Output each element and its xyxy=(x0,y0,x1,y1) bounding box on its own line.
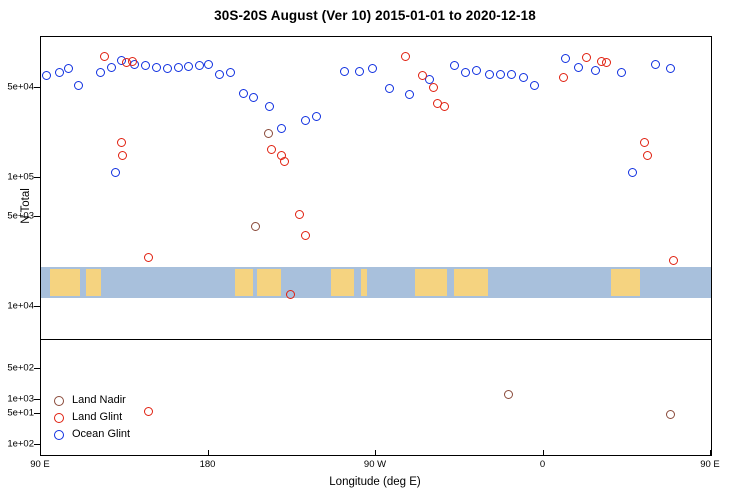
data-point xyxy=(504,390,513,399)
data-point xyxy=(602,58,611,67)
legend-marker-icon xyxy=(54,430,64,440)
x-tick-label: 0 xyxy=(540,459,545,470)
legend-item: Land Nadir xyxy=(54,392,130,409)
data-point xyxy=(174,63,183,72)
data-point xyxy=(574,63,583,72)
data-point xyxy=(440,102,449,111)
legend-label: Land Glint xyxy=(72,409,122,426)
x-tick-mark xyxy=(40,450,41,456)
data-point xyxy=(582,53,591,62)
data-point xyxy=(74,81,83,90)
data-point xyxy=(100,52,109,61)
data-point xyxy=(144,407,153,416)
data-point xyxy=(117,138,126,147)
y-tick-label: 5e+04 xyxy=(0,81,34,92)
legend-marker-icon xyxy=(54,413,64,423)
data-point xyxy=(144,253,153,262)
legend-item: Ocean Glint xyxy=(54,426,130,443)
data-point xyxy=(251,222,260,231)
data-point xyxy=(280,157,289,166)
plot-area xyxy=(40,36,712,456)
y-tick-label: 5e+02 xyxy=(0,362,34,373)
data-point xyxy=(301,231,310,240)
data-point xyxy=(215,70,224,79)
legend-marker-icon xyxy=(54,396,64,406)
data-point xyxy=(239,89,248,98)
x-tick-mark xyxy=(543,450,544,456)
data-point xyxy=(267,145,276,154)
x-tick-label: 90 E xyxy=(700,459,720,470)
data-point xyxy=(591,66,600,75)
data-point xyxy=(669,256,678,265)
data-point xyxy=(666,64,675,73)
data-point xyxy=(286,290,295,299)
y-axis-label: N Total xyxy=(20,136,32,276)
data-point xyxy=(312,112,321,121)
data-point xyxy=(559,73,568,82)
data-point xyxy=(264,129,273,138)
legend-label: Ocean Glint xyxy=(72,426,130,443)
data-point xyxy=(450,61,459,70)
data-point xyxy=(249,93,258,102)
data-point xyxy=(204,60,213,69)
y-tick-label: 1e+04 xyxy=(0,301,34,312)
data-point xyxy=(368,64,377,73)
y-tick-label: 1e+03 xyxy=(0,394,34,405)
data-point xyxy=(643,151,652,160)
coverage-blob xyxy=(86,269,101,296)
data-point xyxy=(472,66,481,75)
data-point xyxy=(295,210,304,219)
data-point xyxy=(64,64,73,73)
data-point xyxy=(628,168,637,177)
coverage-blob xyxy=(50,269,80,296)
data-point xyxy=(141,61,150,70)
chart-root: 30S-20S August (Ver 10) 2015-01-01 to 20… xyxy=(0,0,750,500)
x-tick-mark xyxy=(710,450,711,456)
y-tick-mark xyxy=(34,444,40,445)
data-point xyxy=(42,71,51,80)
data-point xyxy=(496,70,505,79)
data-point xyxy=(265,102,274,111)
data-point xyxy=(651,60,660,69)
y-tick-mark xyxy=(34,306,40,307)
data-point xyxy=(530,81,539,90)
data-point xyxy=(485,70,494,79)
data-point xyxy=(152,63,161,72)
coverage-blob xyxy=(331,269,353,296)
data-point xyxy=(184,62,193,71)
data-point xyxy=(128,57,137,66)
data-point xyxy=(507,70,516,79)
y-tick-mark xyxy=(34,87,40,88)
data-point xyxy=(519,73,528,82)
data-point xyxy=(429,83,438,92)
y-tick-label: 1e+02 xyxy=(0,439,34,450)
data-point xyxy=(277,124,286,133)
data-point xyxy=(385,84,394,93)
x-tick-label: 180 xyxy=(200,459,216,470)
data-point xyxy=(163,64,172,73)
data-point xyxy=(401,52,410,61)
data-point xyxy=(617,68,626,77)
data-point xyxy=(340,67,349,76)
data-point xyxy=(301,116,310,125)
x-tick-label: 90 E xyxy=(30,459,50,470)
chart-title: 30S-20S August (Ver 10) 2015-01-01 to 20… xyxy=(0,8,750,23)
data-point xyxy=(561,54,570,63)
data-point xyxy=(55,68,64,77)
x-tick-mark xyxy=(375,450,376,456)
x-tick-label: 90 W xyxy=(364,459,386,470)
legend: Land NadirLand GlintOcean Glint xyxy=(54,392,130,443)
y-tick-mark xyxy=(34,216,40,217)
panel-divider xyxy=(41,339,711,340)
y-tick-mark xyxy=(34,368,40,369)
data-point xyxy=(195,61,204,70)
coverage-blob xyxy=(611,269,641,296)
y-tick-mark xyxy=(34,399,40,400)
y-tick-mark xyxy=(34,413,40,414)
coverage-blob xyxy=(361,269,367,296)
coverage-blob xyxy=(415,269,447,296)
x-axis-label: Longitude (deg E) xyxy=(0,476,750,488)
x-tick-mark xyxy=(208,450,209,456)
legend-label: Land Nadir xyxy=(72,392,126,409)
data-point xyxy=(461,68,470,77)
y-tick-label: 5e+01 xyxy=(0,407,34,418)
data-point xyxy=(355,67,364,76)
y-tick-mark xyxy=(34,177,40,178)
data-point xyxy=(226,68,235,77)
data-point xyxy=(107,63,116,72)
data-point xyxy=(666,410,675,419)
data-point xyxy=(96,68,105,77)
coverage-blob xyxy=(235,269,254,296)
legend-item: Land Glint xyxy=(54,409,130,426)
data-point xyxy=(111,168,120,177)
data-point xyxy=(405,90,414,99)
coverage-blob xyxy=(454,269,488,296)
data-point xyxy=(640,138,649,147)
data-point xyxy=(118,151,127,160)
coverage-blob xyxy=(257,269,281,296)
